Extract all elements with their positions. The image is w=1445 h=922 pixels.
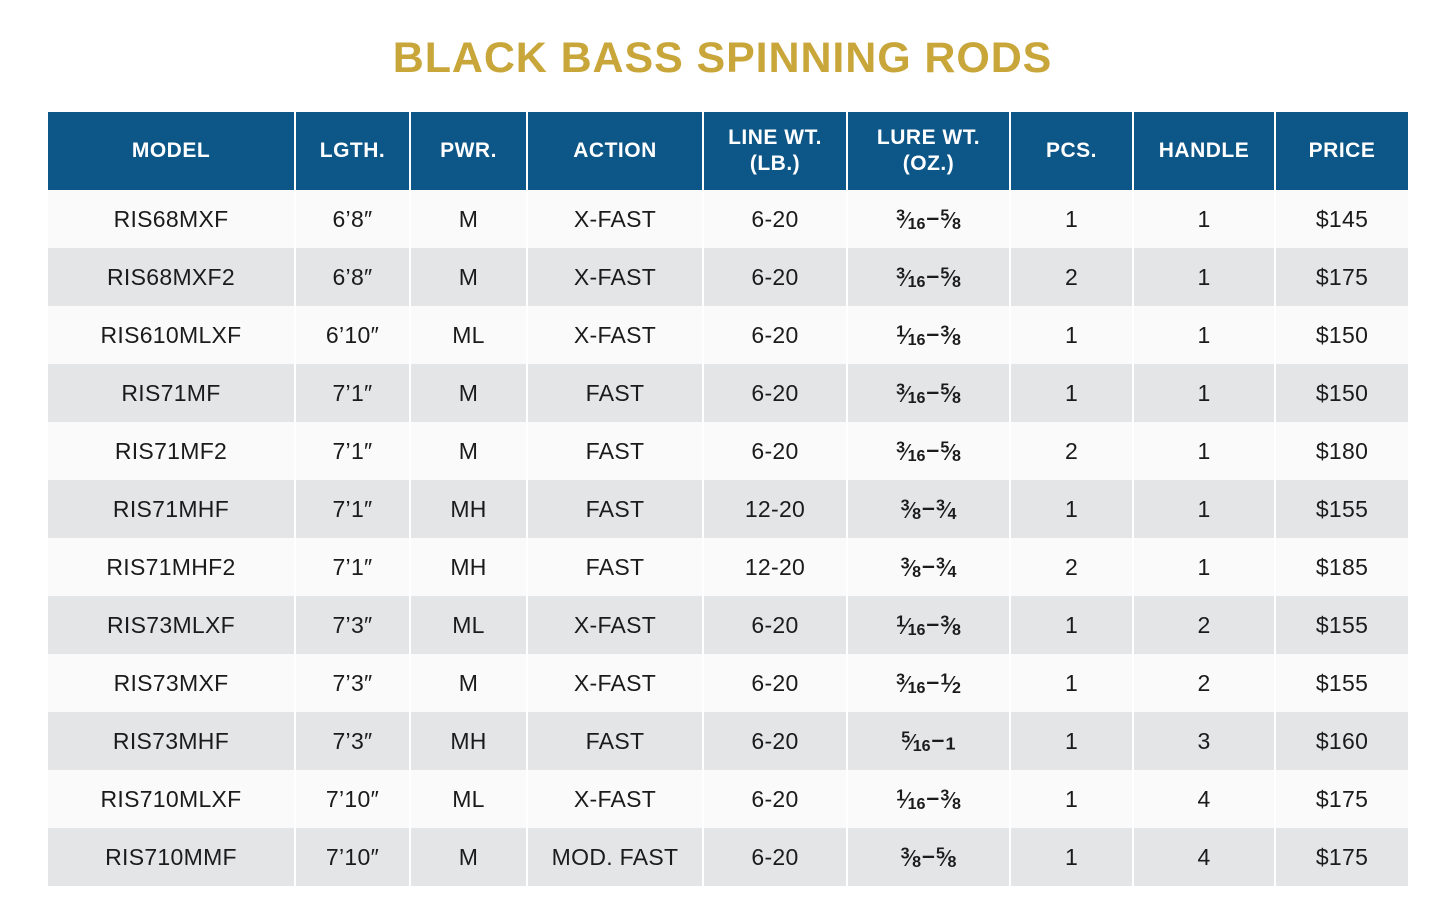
column-header-lure-wt[interactable]: LURE WT. (OZ.) <box>847 112 1010 190</box>
cell-line-weight: 6-20 <box>703 712 847 770</box>
range-dash: – <box>926 668 939 694</box>
fraction-denominator: 16 <box>908 273 926 291</box>
column-header-line-wt[interactable]: LINE WT. (LB.) <box>703 112 847 190</box>
cell-line-weight: 6-20 <box>703 654 847 712</box>
lure-weight-fraction: 3⁄16–1⁄2 <box>896 668 961 698</box>
spec-sheet-page: BLACK BASS SPINNING RODS MODEL LGTH. PWR… <box>0 0 1445 922</box>
cell-pieces: 1 <box>1010 828 1133 886</box>
cell-handle: 3 <box>1133 712 1275 770</box>
cell-power: ML <box>410 770 527 828</box>
cell-pieces: 1 <box>1010 190 1133 248</box>
fraction-denominator: 8 <box>912 505 921 523</box>
fraction-denominator: 16 <box>908 621 926 639</box>
fraction-denominator: 8 <box>912 563 921 581</box>
table-row[interactable]: RIS68MXF6’8″MX-FAST6-203⁄16–5⁄811$145 <box>48 190 1408 248</box>
cell-line-weight: 6-20 <box>703 770 847 828</box>
table-row[interactable]: RIS71MF7’1″MFAST6-203⁄16–5⁄811$150 <box>48 364 1408 422</box>
table-row[interactable]: RIS73MLXF7’3″MLX-FAST6-201⁄16–3⁄812$155 <box>48 596 1408 654</box>
lure-weight-fraction: 3⁄16–5⁄8 <box>896 436 961 466</box>
column-header-line-wt-line1: LINE WT. <box>728 126 822 149</box>
cell-lure-weight: 1⁄16–3⁄8 <box>847 596 1010 654</box>
fraction-denominator: 16 <box>908 389 926 407</box>
cell-length: 7’1″ <box>295 480 410 538</box>
lure-weight-fraction: 5⁄16–1 <box>901 726 956 756</box>
cell-model: RIS71MF <box>48 364 295 422</box>
cell-length: 6’10″ <box>295 306 410 364</box>
fraction-denominator: 8 <box>952 389 961 407</box>
cell-handle: 2 <box>1133 596 1275 654</box>
cell-handle: 1 <box>1133 306 1275 364</box>
range-dash: – <box>932 726 945 752</box>
cell-price: $175 <box>1275 248 1408 306</box>
column-header-lgth[interactable]: LGTH. <box>295 112 410 190</box>
fraction-denominator: 2 <box>952 679 961 697</box>
fraction-denominator: 8 <box>952 215 961 233</box>
range-dash: – <box>926 204 939 230</box>
cell-lure-weight: 3⁄16–5⁄8 <box>847 190 1010 248</box>
page-title: BLACK BASS SPINNING RODS <box>0 32 1445 84</box>
fraction-denominator: 16 <box>913 737 931 755</box>
header-row: MODEL LGTH. PWR. ACTION LINE WT. (LB.) L… <box>48 112 1408 190</box>
fraction-denominator: 8 <box>952 795 961 813</box>
cell-action: X-FAST <box>527 248 703 306</box>
cell-power: MH <box>410 712 527 770</box>
cell-length: 7’1″ <box>295 422 410 480</box>
range-dash: – <box>922 552 935 578</box>
lure-weight-fraction: 3⁄16–5⁄8 <box>896 378 961 408</box>
fraction-denominator: 4 <box>947 505 956 523</box>
fraction-denominator: 8 <box>952 331 961 349</box>
cell-model: RIS710MMF <box>48 828 295 886</box>
cell-length: 7’1″ <box>295 364 410 422</box>
cell-power: MH <box>410 538 527 596</box>
table-row[interactable]: RIS710MMF7’10″MMOD. FAST6-203⁄8–5⁄814$17… <box>48 828 1408 886</box>
cell-handle: 1 <box>1133 364 1275 422</box>
cell-lure-weight: 1⁄16–3⁄8 <box>847 770 1010 828</box>
cell-model: RIS610MLXF <box>48 306 295 364</box>
cell-action: MOD. FAST <box>527 828 703 886</box>
cell-pieces: 1 <box>1010 654 1133 712</box>
cell-model: RIS71MHF2 <box>48 538 295 596</box>
cell-price: $180 <box>1275 422 1408 480</box>
lure-weight-fraction: 3⁄8–3⁄4 <box>901 494 957 524</box>
rod-spec-table: MODEL LGTH. PWR. ACTION LINE WT. (LB.) L… <box>48 112 1408 886</box>
cell-action: X-FAST <box>527 654 703 712</box>
fraction-denominator: 16 <box>908 679 926 697</box>
cell-lure-weight: 3⁄16–1⁄2 <box>847 654 1010 712</box>
cell-handle: 4 <box>1133 770 1275 828</box>
cell-price: $155 <box>1275 596 1408 654</box>
cell-action: X-FAST <box>527 770 703 828</box>
cell-length: 7’3″ <box>295 596 410 654</box>
cell-line-weight: 6-20 <box>703 306 847 364</box>
cell-price: $160 <box>1275 712 1408 770</box>
cell-model: RIS710MLXF <box>48 770 295 828</box>
cell-line-weight: 6-20 <box>703 596 847 654</box>
lure-weight-fraction: 1⁄16–3⁄8 <box>896 784 961 814</box>
cell-line-weight: 6-20 <box>703 828 847 886</box>
cell-handle: 1 <box>1133 248 1275 306</box>
fraction-denominator: 16 <box>908 795 926 813</box>
table-row[interactable]: RIS71MHF27’1″MHFAST12-203⁄8–3⁄421$185 <box>48 538 1408 596</box>
cell-pieces: 1 <box>1010 712 1133 770</box>
cell-price: $155 <box>1275 654 1408 712</box>
cell-action: X-FAST <box>527 306 703 364</box>
cell-handle: 4 <box>1133 828 1275 886</box>
spec-table-container: MODEL LGTH. PWR. ACTION LINE WT. (LB.) L… <box>48 112 1408 886</box>
cell-line-weight: 12-20 <box>703 538 847 596</box>
cell-power: M <box>410 828 527 886</box>
fraction-denominator: 16 <box>908 447 926 465</box>
table-row[interactable]: RIS68MXF26’8″MX-FAST6-203⁄16–5⁄821$175 <box>48 248 1408 306</box>
cell-handle: 1 <box>1133 190 1275 248</box>
column-header-handle[interactable]: HANDLE <box>1133 112 1275 190</box>
column-header-price[interactable]: PRICE <box>1275 112 1408 190</box>
range-dash: – <box>926 262 939 288</box>
fraction-denominator: 8 <box>952 447 961 465</box>
cell-pieces: 1 <box>1010 306 1133 364</box>
cell-pieces: 1 <box>1010 480 1133 538</box>
range-dash: – <box>926 320 939 346</box>
cell-handle: 1 <box>1133 422 1275 480</box>
cell-line-weight: 6-20 <box>703 364 847 422</box>
lure-weight-fraction: 3⁄16–5⁄8 <box>896 262 961 292</box>
table-row[interactable]: RIS710MLXF7’10″MLX-FAST6-201⁄16–3⁄814$17… <box>48 770 1408 828</box>
cell-pieces: 2 <box>1010 248 1133 306</box>
range-dash: – <box>926 378 939 404</box>
cell-power: M <box>410 422 527 480</box>
cell-lure-weight: 3⁄16–5⁄8 <box>847 422 1010 480</box>
cell-length: 7’1″ <box>295 538 410 596</box>
cell-price: $175 <box>1275 770 1408 828</box>
range-dash: – <box>922 842 935 868</box>
column-header-pcs[interactable]: PCS. <box>1010 112 1133 190</box>
cell-model: RIS73MLXF <box>48 596 295 654</box>
lure-weight-fraction: 1⁄16–3⁄8 <box>896 610 961 640</box>
cell-power: M <box>410 248 527 306</box>
cell-price: $185 <box>1275 538 1408 596</box>
cell-pieces: 2 <box>1010 422 1133 480</box>
table-row[interactable]: RIS71MHF7’1″MHFAST12-203⁄8–3⁄411$155 <box>48 480 1408 538</box>
cell-handle: 1 <box>1133 538 1275 596</box>
cell-pieces: 1 <box>1010 770 1133 828</box>
fraction-whole: 1 <box>946 733 956 753</box>
fraction-denominator: 8 <box>952 273 961 291</box>
cell-model: RIS73MHF <box>48 712 295 770</box>
fraction-denominator: 8 <box>912 853 921 871</box>
column-header-pwr[interactable]: PWR. <box>410 112 527 190</box>
cell-action: FAST <box>527 480 703 538</box>
cell-action: FAST <box>527 422 703 480</box>
fraction-denominator: 4 <box>947 563 956 581</box>
cell-model: RIS73MXF <box>48 654 295 712</box>
range-dash: – <box>926 784 939 810</box>
column-header-model[interactable]: MODEL <box>48 112 295 190</box>
cell-lure-weight: 3⁄8–3⁄4 <box>847 538 1010 596</box>
cell-line-weight: 12-20 <box>703 480 847 538</box>
table-row[interactable]: RIS73MXF7’3″MX-FAST6-203⁄16–1⁄212$155 <box>48 654 1408 712</box>
column-header-action[interactable]: ACTION <box>527 112 703 190</box>
fraction-denominator: 8 <box>947 853 956 871</box>
cell-price: $150 <box>1275 306 1408 364</box>
cell-lure-weight: 3⁄8–3⁄4 <box>847 480 1010 538</box>
cell-length: 6’8″ <box>295 248 410 306</box>
cell-model: RIS71MHF <box>48 480 295 538</box>
fraction-denominator: 16 <box>908 331 926 349</box>
cell-price: $145 <box>1275 190 1408 248</box>
cell-length: 6’8″ <box>295 190 410 248</box>
cell-lure-weight: 3⁄8–5⁄8 <box>847 828 1010 886</box>
range-dash: – <box>922 494 935 520</box>
cell-line-weight: 6-20 <box>703 190 847 248</box>
cell-power: ML <box>410 306 527 364</box>
fraction-denominator: 8 <box>952 621 961 639</box>
cell-lure-weight: 5⁄16–1 <box>847 712 1010 770</box>
cell-length: 7’10″ <box>295 828 410 886</box>
lure-weight-fraction: 3⁄16–5⁄8 <box>896 204 961 234</box>
lure-weight-fraction: 3⁄8–5⁄8 <box>901 842 957 872</box>
cell-length: 7’3″ <box>295 654 410 712</box>
cell-price: $150 <box>1275 364 1408 422</box>
cell-price: $155 <box>1275 480 1408 538</box>
table-row[interactable]: RIS610MLXF6’10″MLX-FAST6-201⁄16–3⁄811$15… <box>48 306 1408 364</box>
cell-length: 7’3″ <box>295 712 410 770</box>
lure-weight-fraction: 3⁄8–3⁄4 <box>901 552 957 582</box>
cell-action: FAST <box>527 364 703 422</box>
cell-handle: 2 <box>1133 654 1275 712</box>
cell-lure-weight: 3⁄16–5⁄8 <box>847 364 1010 422</box>
cell-action: FAST <box>527 538 703 596</box>
cell-pieces: 1 <box>1010 364 1133 422</box>
cell-line-weight: 6-20 <box>703 248 847 306</box>
cell-model: RIS71MF2 <box>48 422 295 480</box>
cell-action: FAST <box>527 712 703 770</box>
range-dash: – <box>926 610 939 636</box>
cell-power: M <box>410 190 527 248</box>
cell-power: ML <box>410 596 527 654</box>
cell-pieces: 1 <box>1010 596 1133 654</box>
cell-power: MH <box>410 480 527 538</box>
cell-pieces: 2 <box>1010 538 1133 596</box>
cell-length: 7’10″ <box>295 770 410 828</box>
lure-weight-fraction: 1⁄16–3⁄8 <box>896 320 961 350</box>
table-row[interactable]: RIS71MF27’1″MFAST6-203⁄16–5⁄821$180 <box>48 422 1408 480</box>
cell-power: M <box>410 364 527 422</box>
cell-action: X-FAST <box>527 596 703 654</box>
table-row[interactable]: RIS73MHF7’3″MHFAST6-205⁄16–113$160 <box>48 712 1408 770</box>
column-header-line-wt-line2: (LB.) <box>750 152 800 175</box>
range-dash: – <box>926 436 939 462</box>
cell-action: X-FAST <box>527 190 703 248</box>
cell-price: $175 <box>1275 828 1408 886</box>
column-header-lure-wt-line1: LURE WT. <box>877 126 980 149</box>
cell-model: RIS68MXF <box>48 190 295 248</box>
cell-lure-weight: 1⁄16–3⁄8 <box>847 306 1010 364</box>
column-header-lure-wt-line2: (OZ.) <box>903 152 954 175</box>
cell-power: M <box>410 654 527 712</box>
cell-model: RIS68MXF2 <box>48 248 295 306</box>
cell-handle: 1 <box>1133 480 1275 538</box>
cell-line-weight: 6-20 <box>703 422 847 480</box>
table-body: RIS68MXF6’8″MX-FAST6-203⁄16–5⁄811$145RIS… <box>48 190 1408 886</box>
table-header: MODEL LGTH. PWR. ACTION LINE WT. (LB.) L… <box>48 112 1408 190</box>
fraction-denominator: 16 <box>908 215 926 233</box>
cell-lure-weight: 3⁄16–5⁄8 <box>847 248 1010 306</box>
